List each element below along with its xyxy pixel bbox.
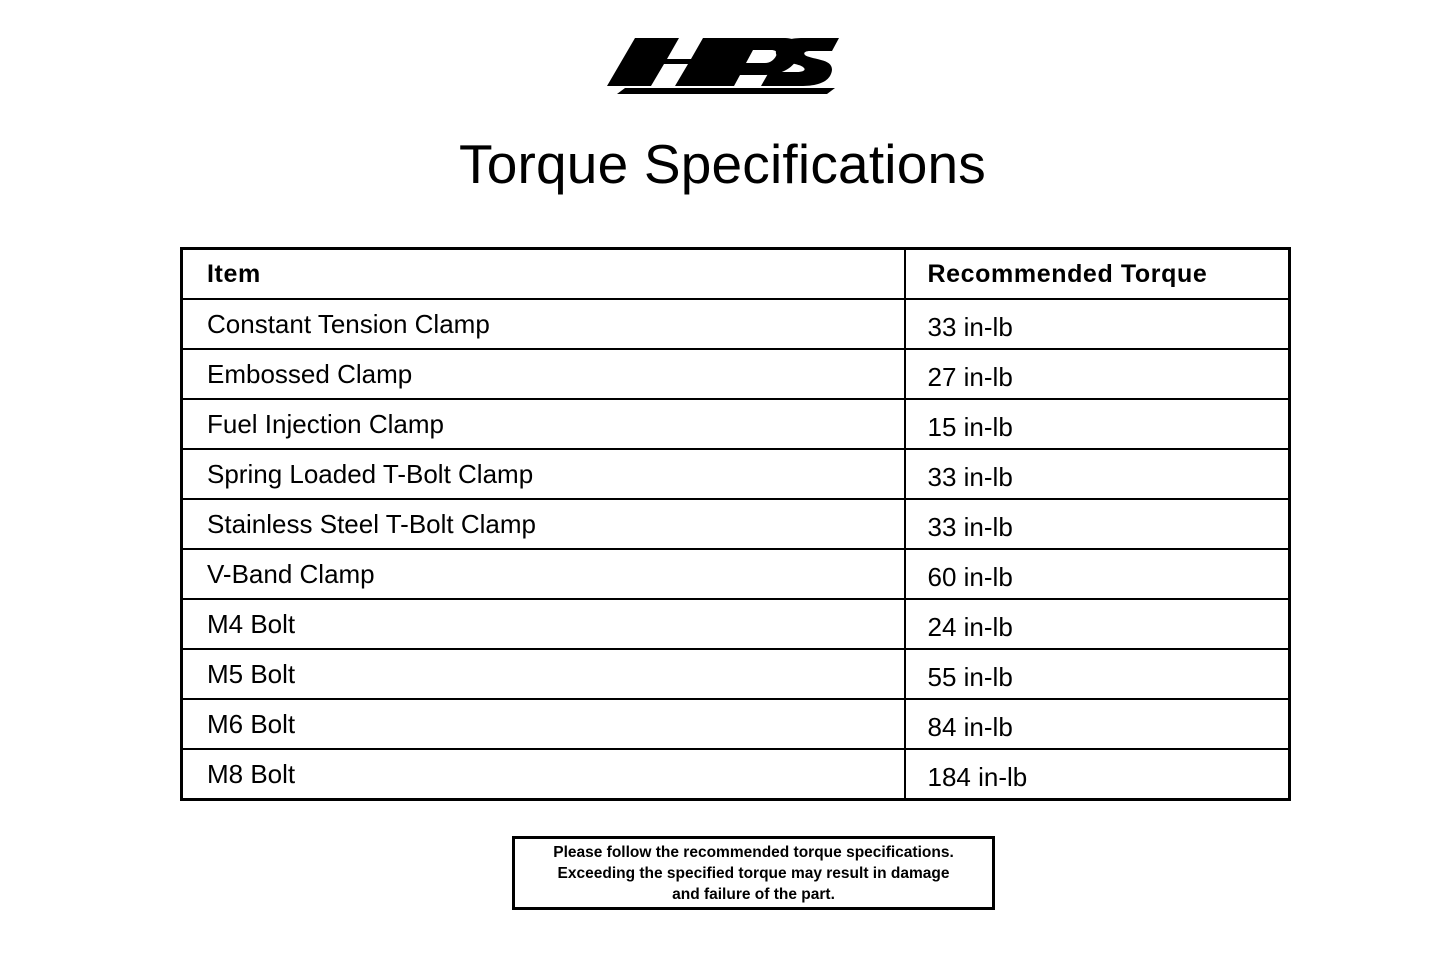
table-row: Stainless Steel T-Bolt Clamp 33 in-lb	[182, 499, 1290, 549]
item-name: M6 Bolt	[183, 709, 904, 740]
torque-value: 33 in-lb	[906, 312, 1289, 343]
cell-item: Constant Tension Clamp	[182, 299, 905, 349]
page-title: Torque Specifications	[0, 131, 1445, 197]
torque-value: 55 in-lb	[906, 662, 1289, 693]
table-row: Spring Loaded T-Bolt Clamp 33 in-lb	[182, 449, 1290, 499]
table-row: V-Band Clamp 60 in-lb	[182, 549, 1290, 599]
table-row: Constant Tension Clamp 33 in-lb	[182, 299, 1290, 349]
table-row: M4 Bolt 24 in-lb	[182, 599, 1290, 649]
torque-value: 60 in-lb	[906, 562, 1289, 593]
torque-value: 15 in-lb	[906, 412, 1289, 443]
table-row: M6 Bolt 84 in-lb	[182, 699, 1290, 749]
cell-torque: 33 in-lb	[905, 499, 1290, 549]
cell-torque: 184 in-lb	[905, 749, 1290, 800]
cell-item: M8 Bolt	[182, 749, 905, 800]
cell-torque: 60 in-lb	[905, 549, 1290, 599]
column-header-item: Item	[182, 249, 905, 300]
torque-value: 33 in-lb	[906, 512, 1289, 543]
item-name: Embossed Clamp	[183, 359, 904, 390]
item-name: Stainless Steel T-Bolt Clamp	[183, 509, 904, 540]
table-row: M8 Bolt 184 in-lb	[182, 749, 1290, 800]
item-name: V-Band Clamp	[183, 559, 904, 590]
table-header-row: Item Recommended Torque	[182, 249, 1290, 300]
cell-torque: 33 in-lb	[905, 449, 1290, 499]
table-row: Embossed Clamp 27 in-lb	[182, 349, 1290, 399]
cell-torque: 27 in-lb	[905, 349, 1290, 399]
item-name: M8 Bolt	[183, 759, 904, 790]
footnote-line: Please follow the recommended torque spe…	[553, 842, 954, 863]
torque-value: 184 in-lb	[906, 762, 1289, 793]
item-name: M4 Bolt	[183, 609, 904, 640]
item-name: Constant Tension Clamp	[183, 309, 904, 340]
brand-logo	[0, 32, 1445, 104]
torque-specifications-table: Item Recommended Torque Constant Tension…	[180, 247, 1288, 801]
cell-item: Embossed Clamp	[182, 349, 905, 399]
column-header-torque-label: Recommended Torque	[906, 260, 1289, 289]
item-name: Fuel Injection Clamp	[183, 409, 904, 440]
cell-item: M5 Bolt	[182, 649, 905, 699]
hps-logo-icon	[607, 32, 839, 94]
footnote-line: and failure of the part.	[672, 884, 835, 905]
cell-item: M6 Bolt	[182, 699, 905, 749]
cell-item: Stainless Steel T-Bolt Clamp	[182, 499, 905, 549]
cell-item: Spring Loaded T-Bolt Clamp	[182, 449, 905, 499]
column-header-torque: Recommended Torque	[905, 249, 1290, 300]
table-row: M5 Bolt 55 in-lb	[182, 649, 1290, 699]
footnote-box: Please follow the recommended torque spe…	[512, 836, 995, 910]
torque-value: 27 in-lb	[906, 362, 1289, 393]
cell-item: V-Band Clamp	[182, 549, 905, 599]
cell-torque: 84 in-lb	[905, 699, 1290, 749]
torque-value: 84 in-lb	[906, 712, 1289, 743]
cell-item: M4 Bolt	[182, 599, 905, 649]
cell-torque: 15 in-lb	[905, 399, 1290, 449]
torque-value: 33 in-lb	[906, 462, 1289, 493]
table-row: Fuel Injection Clamp 15 in-lb	[182, 399, 1290, 449]
item-name: Spring Loaded T-Bolt Clamp	[183, 459, 904, 490]
cell-torque: 55 in-lb	[905, 649, 1290, 699]
item-name: M5 Bolt	[183, 659, 904, 690]
cell-item: Fuel Injection Clamp	[182, 399, 905, 449]
torque-value: 24 in-lb	[906, 612, 1289, 643]
column-header-item-label: Item	[183, 260, 904, 289]
cell-torque: 33 in-lb	[905, 299, 1290, 349]
footnote-line: Exceeding the specified torque may resul…	[558, 863, 950, 884]
cell-torque: 24 in-lb	[905, 599, 1290, 649]
